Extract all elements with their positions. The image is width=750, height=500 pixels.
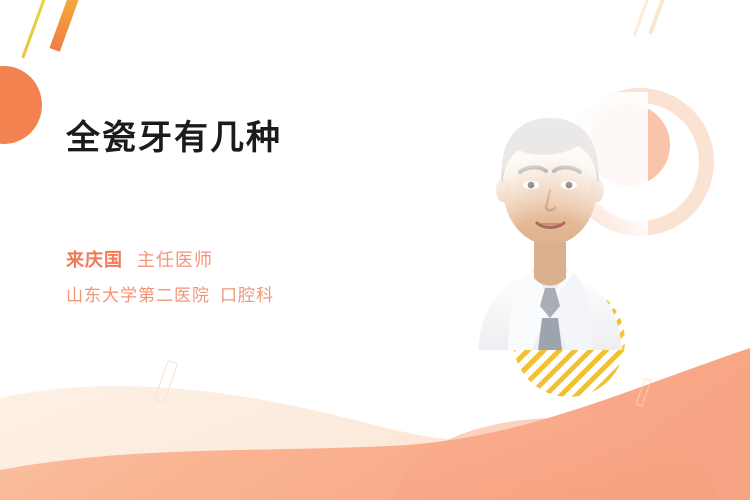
- outlined-diagonal-bar-icon: [154, 360, 179, 403]
- doctor-hospital: 山东大学第二医院: [66, 286, 210, 305]
- orange-diagonal-bar-icon: [49, 0, 82, 52]
- doctor-title: 主任医师: [137, 250, 213, 270]
- doctor-affiliation-row: 山东大学第二医院口腔科: [66, 281, 466, 311]
- orange-circle-icon: [0, 66, 42, 144]
- yellow-diagonal-bar-icon: [21, 0, 50, 58]
- doctor-name: 来庆国: [66, 250, 123, 270]
- page-title: 全瓷牙有几种: [66, 118, 446, 159]
- doctor-department: 口腔科: [220, 286, 274, 305]
- doctor-credentials: 来庆国主任医师 山东大学第二医院口腔科: [66, 245, 466, 311]
- cream-diagonal-bar-icon-2: [648, 0, 667, 35]
- doctor-name-row: 来庆国主任医师: [66, 245, 466, 275]
- doctor-portrait: [452, 92, 648, 350]
- doctor-info-card: 全瓷牙有几种 来庆国主任医师 山东大学第二医院口腔科: [0, 0, 750, 500]
- outlined-diagonal-bar-icon-2: [635, 378, 651, 407]
- title-block: 全瓷牙有几种: [66, 118, 446, 159]
